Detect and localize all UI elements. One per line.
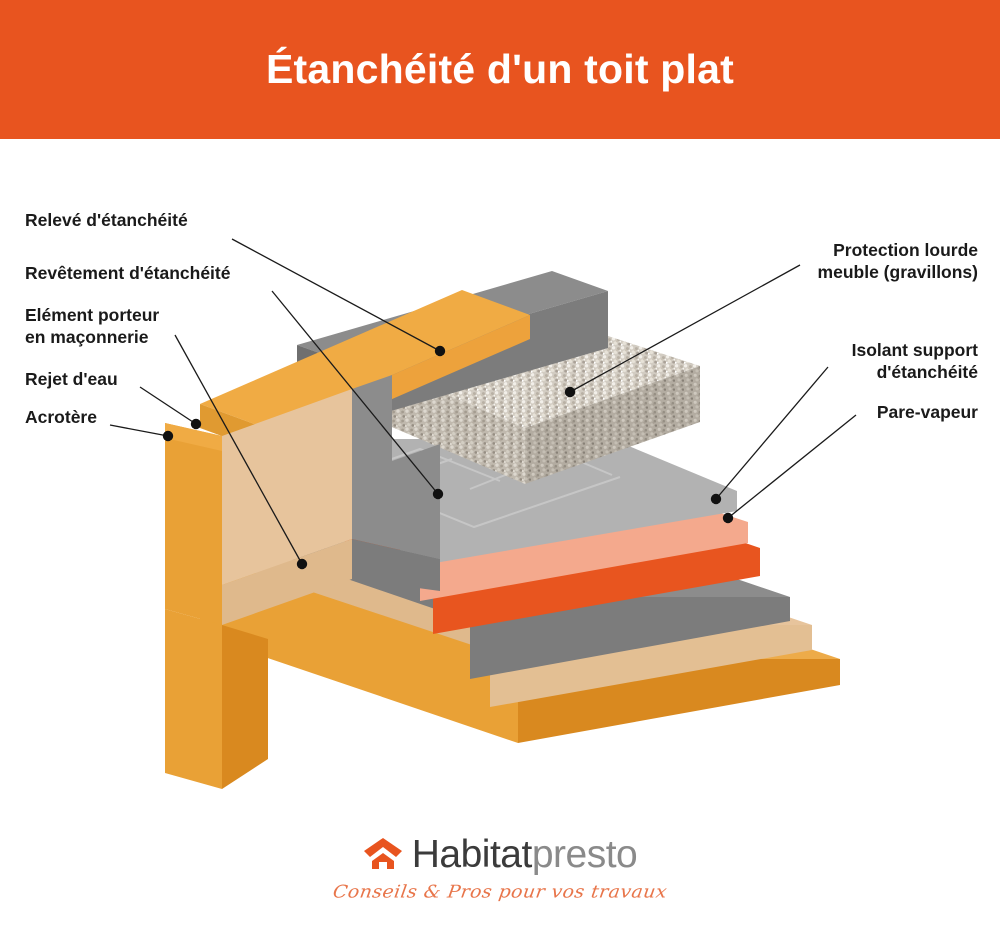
label-isolant-support: Isolant support d'étanchéité [852, 339, 978, 384]
header-banner: Étanchéité d'un toit plat [0, 0, 1000, 139]
logo-tagline: Conseils & Pros pour vos travaux [332, 882, 669, 902]
acrotere-front-wall [165, 375, 440, 789]
brand-logo: Habitatpresto Conseils & Pros pour vos t… [0, 835, 1000, 935]
diagram-stage: Relevé d'étanchéité Revêtement d'étanché… [0, 139, 1000, 826]
logo-row: Habitatpresto [363, 835, 637, 874]
logo-presto-text: presto [532, 833, 637, 876]
label-protection-lourde: Protection lourde meuble (gravillons) [818, 239, 978, 284]
label-acrotere: Acrotère [25, 406, 97, 428]
page-title: Étanchéité d'un toit plat [266, 47, 734, 92]
label-element-porteur: Elément porteur en maçonnerie [25, 304, 159, 349]
label-pare-vapeur: Pare-vapeur [877, 401, 978, 423]
label-revetement-etancheite: Revêtement d'étanchéité [25, 262, 230, 284]
logo-wordmark: Habitatpresto [412, 835, 637, 874]
logo-habitat-text: Habitat [412, 833, 532, 876]
house-chevron-icon [363, 836, 403, 874]
label-releve-etancheite: Relevé d'étanchéité [25, 209, 188, 231]
label-rejet-eau: Rejet d'eau [25, 368, 118, 390]
infographic-page: Étanchéité d'un toit plat [0, 0, 1000, 826]
